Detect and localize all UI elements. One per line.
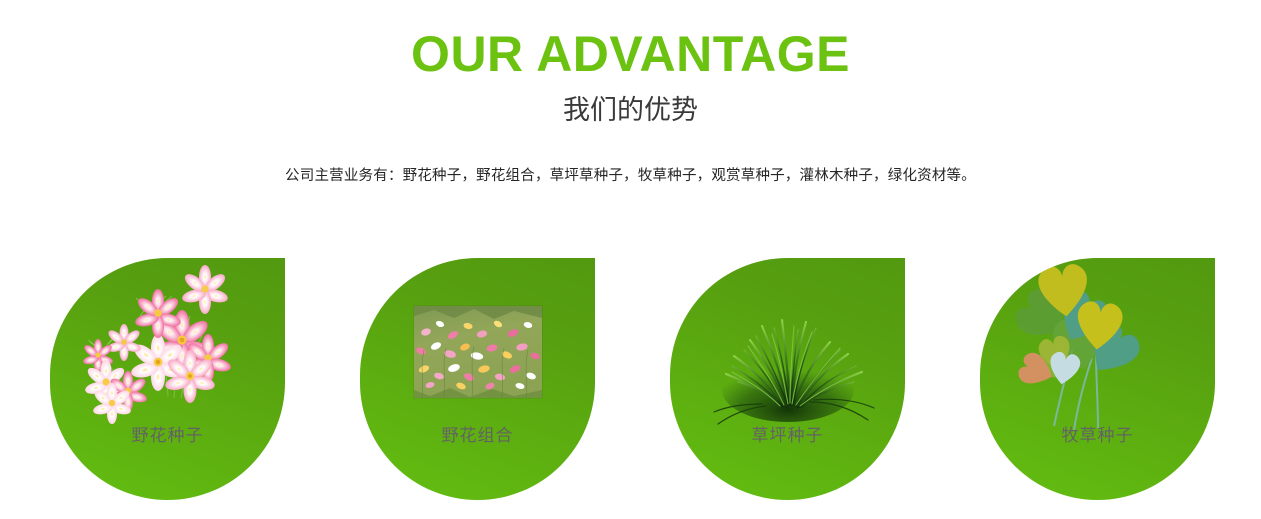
wildflower-illustration-icon (50, 258, 285, 433)
advantage-card-list: 野花种子 (0, 258, 1261, 508)
advantage-card-wildflower-mix[interactable]: 野花组合 (360, 258, 595, 500)
clover-leaves-icon (980, 258, 1215, 433)
advantage-section: OUR ADVANTAGE 我们的优势 公司主营业务有：野花种子，野花组合，草坪… (0, 0, 1261, 519)
section-header: OUR ADVANTAGE 我们的优势 公司主营业务有：野花种子，野花组合，草坪… (0, 0, 1261, 188)
card-label: 草坪种子 (670, 425, 905, 447)
wildflower-meadow-photo-icon (414, 306, 542, 398)
section-intro-text: 公司主营业务有：野花种子，野花组合，草坪草种子，牧草种子，观赏草种子，灌林木种子… (0, 166, 1261, 188)
advantage-card-wildflower-seeds[interactable]: 野花种子 (50, 258, 285, 500)
page-title-chinese: 我们的优势 (0, 94, 1261, 126)
card-label: 牧草种子 (980, 425, 1215, 447)
page-title-english: OUR ADVANTAGE (0, 26, 1261, 82)
card-label: 野花组合 (360, 425, 595, 447)
card-label: 野花种子 (50, 425, 285, 447)
advantage-card-forage-seeds[interactable]: 牧草种子 (980, 258, 1215, 500)
grass-tuft-photo-icon (670, 258, 905, 433)
advantage-card-lawn-seeds[interactable]: 草坪种子 (670, 258, 905, 500)
